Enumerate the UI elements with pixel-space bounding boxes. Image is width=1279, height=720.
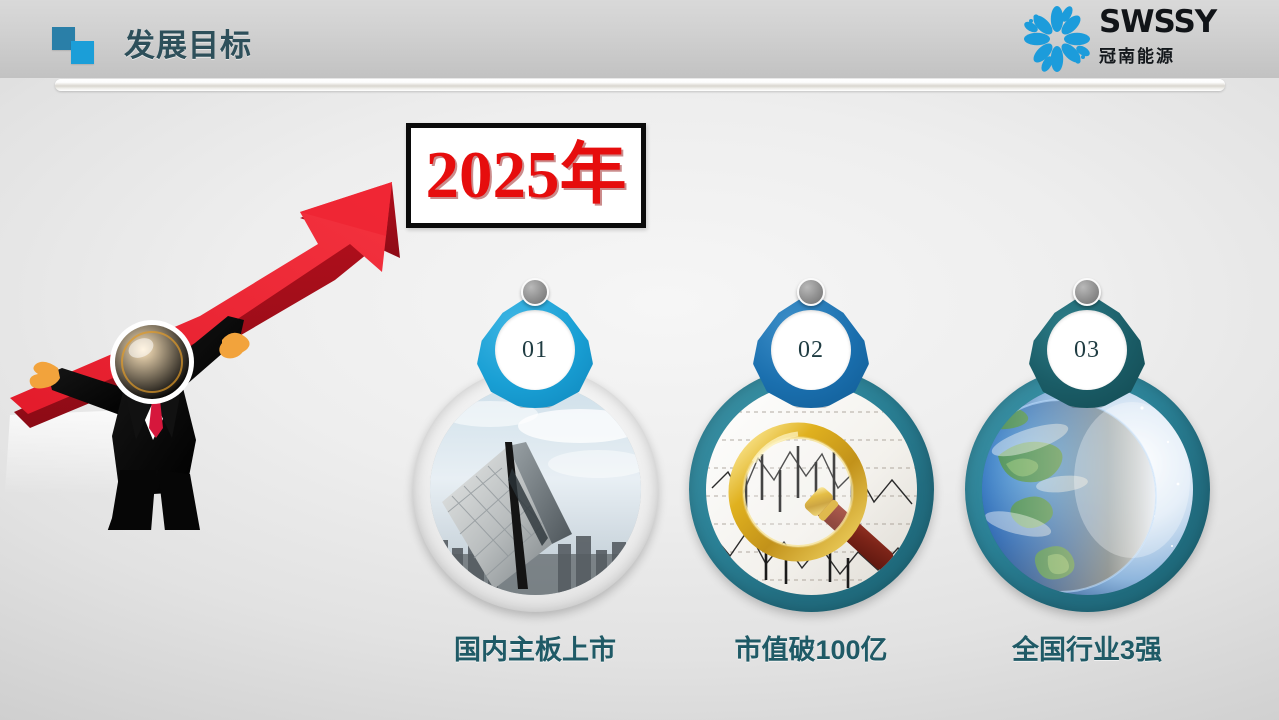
page-title: 发展目标 (124, 20, 252, 65)
businessman-on-rising-arrow-illustration (0, 140, 420, 530)
goal-pin-head-02 (797, 278, 825, 306)
header-square-decoration-secondary (71, 41, 94, 64)
goal-number-02: 02 (798, 337, 824, 364)
goal-pin-head-03 (1073, 278, 1101, 306)
goal-pin-01[interactable]: 01 (477, 278, 593, 408)
slide-header: 发展目标 (0, 0, 1279, 78)
goal-pin-badge-01: 01 (495, 310, 575, 390)
goal-number-03: 03 (1074, 337, 1100, 364)
logo-text-block: SWSSY 冠南能源 (1099, 6, 1267, 67)
year-callout-text: 2025年 (426, 142, 627, 209)
magnifying-glass-stock-chart-photo (706, 384, 917, 595)
presentation-slide: 发展目标 (0, 0, 1279, 720)
logo-subtitle: 冠南能源 (1099, 42, 1267, 67)
goal-number-01: 01 (522, 337, 548, 364)
swssy-petal-logo-mark (1021, 5, 1093, 73)
company-logo: SWSSY 冠南能源 (1021, 2, 1271, 74)
goal-label-01: 国内主板上市 (395, 628, 675, 667)
logo-wordmark: SWSSY (1099, 6, 1267, 39)
skyscraper-blueprint-photo (430, 384, 641, 595)
goal-pin-02[interactable]: 02 (753, 278, 869, 408)
goal-pin-badge-03: 03 (1047, 310, 1127, 390)
goal-label-03: 全国行业3强 (947, 628, 1227, 667)
goal-label-02: 市值破100亿 (671, 628, 951, 667)
goal-pin-03[interactable]: 03 (1029, 278, 1145, 408)
header-divider-bar (55, 79, 1225, 91)
goal-pin-badge-02: 02 (771, 310, 851, 390)
goal-pin-head-01 (521, 278, 549, 306)
year-callout-box: 2025年 (406, 123, 646, 228)
earth-globe-space-photo (982, 384, 1193, 595)
